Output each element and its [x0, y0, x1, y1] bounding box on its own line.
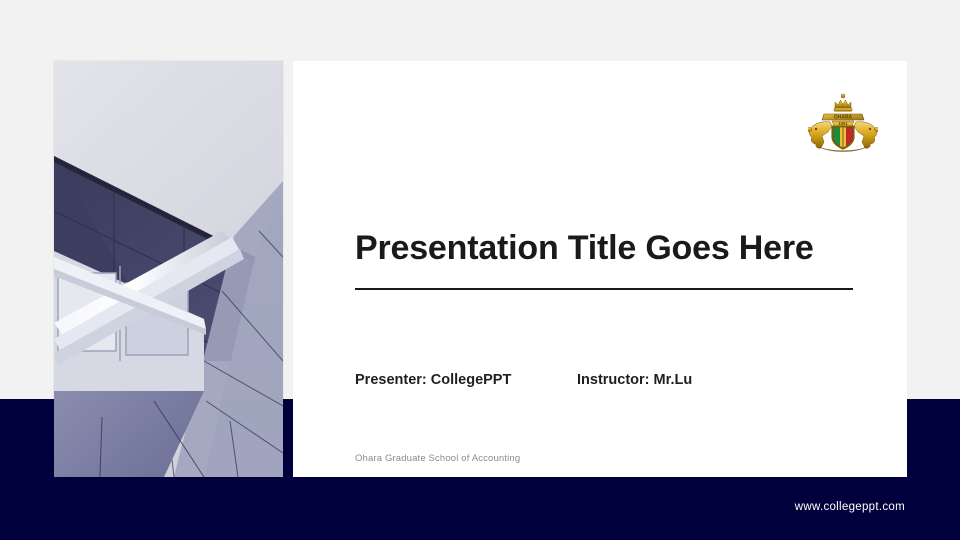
- crest-banner-text: OHARA: [834, 115, 853, 121]
- instructor-label: Instructor: Mr.Lu: [577, 372, 692, 388]
- site-url: www.collegeppt.com: [795, 501, 905, 513]
- presenter-label: Presenter: CollegePPT: [355, 372, 577, 388]
- meta-row: Presenter: CollegePPT Instructor: Mr.Lu: [355, 372, 692, 388]
- page-title: Presentation Title Goes Here: [355, 230, 865, 267]
- title-divider: [355, 288, 853, 290]
- architecture-photo-graphic: [54, 61, 283, 477]
- institution-footer: Ohara Graduate School of Accounting: [355, 453, 520, 464]
- svg-text:1951: 1951: [838, 121, 848, 126]
- ohara-crest-graphic: OHARA 1951: [808, 92, 878, 154]
- ohara-crest-icon: OHARA 1951: [808, 92, 878, 154]
- slide-card: OHARA 1951: [293, 61, 907, 477]
- architecture-photo: [54, 61, 283, 477]
